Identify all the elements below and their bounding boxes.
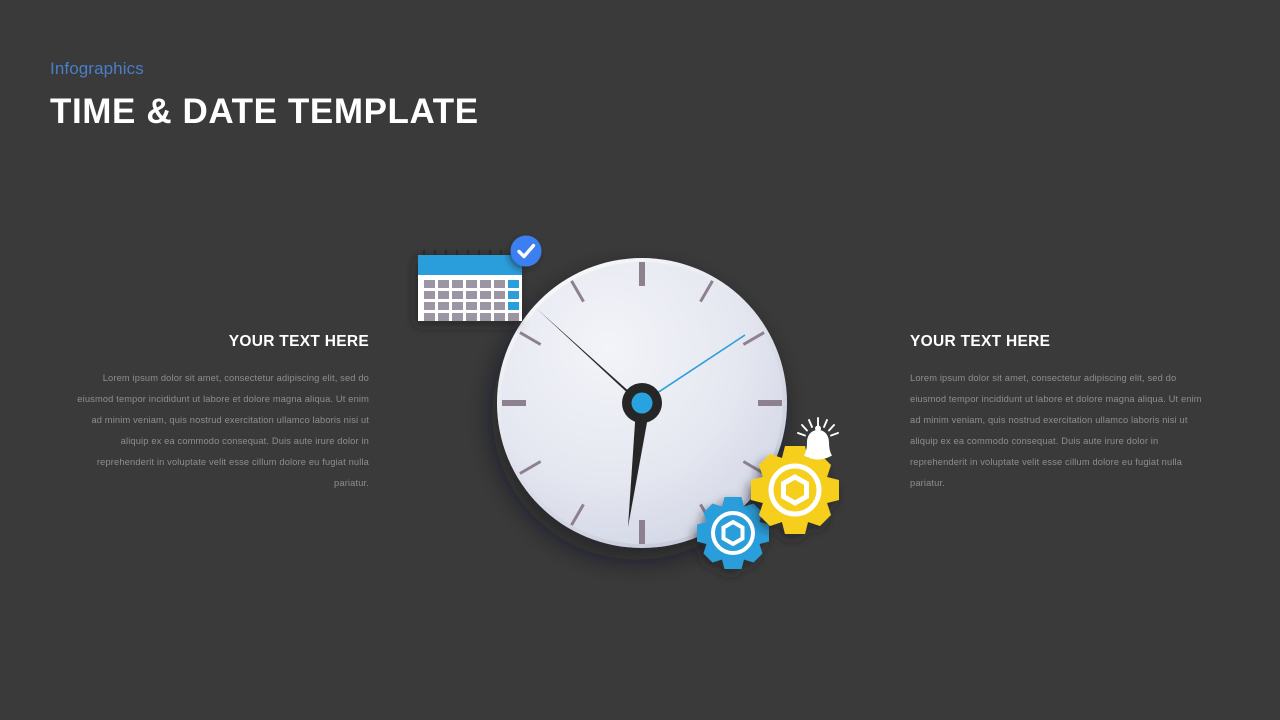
text-block-left: YOUR TEXT HERE Lorem ipsum dolor sit ame…	[77, 333, 369, 493]
check-badge	[511, 236, 542, 267]
page-title: TIME & DATE TEMPLATE	[50, 92, 479, 132]
text-block-left-body: Lorem ipsum dolor sit amet, consectetur …	[77, 368, 369, 493]
text-block-right: YOUR TEXT HERE Lorem ipsum dolor sit ame…	[910, 333, 1202, 493]
slide-canvas: Infographics TIME & DATE TEMPLATE YOUR T…	[0, 0, 1280, 720]
text-block-right-heading: YOUR TEXT HERE	[910, 333, 1202, 351]
illustration-stage	[400, 220, 880, 600]
text-block-right-body: Lorem ipsum dolor sit amet, consectetur …	[910, 368, 1202, 493]
text-block-left-heading: YOUR TEXT HERE	[77, 333, 369, 351]
calendar-graphic	[418, 250, 522, 321]
eyebrow-label: Infographics	[50, 59, 144, 79]
clock-hub	[632, 393, 653, 414]
